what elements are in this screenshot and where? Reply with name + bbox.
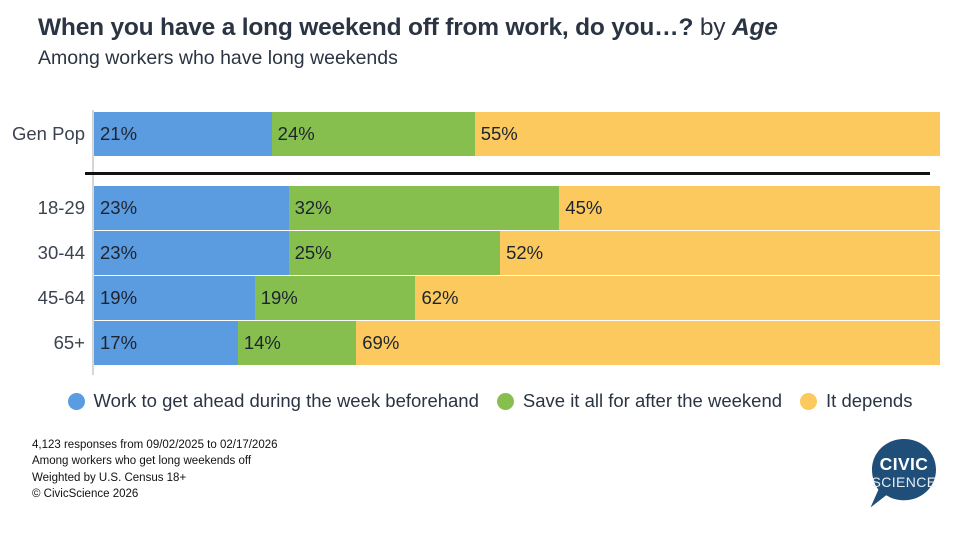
bar-segment-value: 25% [289, 242, 332, 264]
bar-segment-value: 23% [94, 197, 137, 219]
legend-item-label: It depends [826, 390, 912, 412]
footnote-weighting: Weighted by U.S. Census 18+ [32, 470, 278, 486]
bar-segment[interactable]: 17% [94, 321, 238, 365]
bar-segment-value: 19% [255, 287, 298, 309]
page-title: When you have a long weekend off from wo… [38, 14, 938, 43]
legend-item[interactable]: Work to get ahead during the week before… [68, 390, 479, 412]
bar-row-label: Gen Pop [0, 112, 85, 156]
bar-segment[interactable]: 14% [238, 321, 356, 365]
bar-segment[interactable]: 69% [356, 321, 940, 365]
bar-segment-value: 62% [415, 287, 458, 309]
bar-row: Gen Pop21%24%55% [0, 112, 966, 156]
bar-segment-value: 24% [272, 123, 315, 145]
title-connector: by [693, 14, 732, 41]
bar-segment[interactable]: 32% [289, 186, 560, 230]
bar-row-label: 65+ [0, 321, 85, 365]
civicscience-logo: CIVIC SCIENCE [864, 437, 944, 511]
legend-swatch-circle-icon [497, 393, 514, 410]
bar-segment[interactable]: 25% [289, 231, 501, 275]
bar-segment-value: 23% [94, 242, 137, 264]
legend-swatch-circle-icon [800, 393, 817, 410]
gen-pop-divider [85, 172, 930, 175]
bar-segment-value: 14% [238, 332, 281, 354]
legend-item-label: Work to get ahead during the week before… [94, 390, 479, 412]
stacked-bar: 19%19%62% [94, 276, 940, 320]
bar-segment-value: 52% [500, 242, 543, 264]
legend-item[interactable]: Save it all for after the weekend [497, 390, 782, 412]
bar-segment[interactable]: 55% [475, 112, 940, 156]
legend-item[interactable]: It depends [800, 390, 912, 412]
bar-segment[interactable]: 23% [94, 186, 289, 230]
chart-header: When you have a long weekend off from wo… [38, 14, 938, 71]
legend-swatch-circle-icon [68, 393, 85, 410]
title-breakout: Age [732, 14, 778, 41]
footnote: 4,123 responses from 09/02/2025 to 02/17… [32, 437, 278, 502]
bar-segment-value: 21% [94, 123, 137, 145]
bar-segment[interactable]: 23% [94, 231, 289, 275]
bar-segment-value: 19% [94, 287, 137, 309]
bar-row: 18-2923%32%45% [0, 186, 966, 230]
bar-segment-value: 45% [559, 197, 602, 219]
bar-row-label: 18-29 [0, 186, 85, 230]
stacked-bar: 17%14%69% [94, 321, 940, 365]
chart-plot-area: Gen Pop21%24%55%18-2923%32%45%30-4423%25… [0, 104, 966, 379]
bar-row: 30-4423%25%52% [0, 231, 966, 275]
logo-text-civic: CIVIC [880, 454, 929, 474]
bar-segment[interactable]: 52% [500, 231, 940, 275]
stacked-bar: 23%25%52% [94, 231, 940, 275]
bar-segment-value: 55% [475, 123, 518, 145]
stacked-bar: 21%24%55% [94, 112, 940, 156]
bar-row: 65+17%14%69% [0, 321, 966, 365]
civicscience-logo-icon: CIVIC SCIENCE [864, 437, 944, 511]
bar-segment[interactable]: 45% [559, 186, 940, 230]
bar-segment-value: 69% [356, 332, 399, 354]
legend-item-label: Save it all for after the weekend [523, 390, 782, 412]
bar-segment-value: 17% [94, 332, 137, 354]
bar-segment[interactable]: 21% [94, 112, 272, 156]
bar-segment[interactable]: 19% [255, 276, 416, 320]
logo-text-science: SCIENCE [871, 474, 936, 490]
bar-segment[interactable]: 62% [415, 276, 940, 320]
footnote-population: Among workers who get long weekends off [32, 453, 278, 469]
bar-segment[interactable]: 24% [272, 112, 475, 156]
bar-row: 45-6419%19%62% [0, 276, 966, 320]
footnote-copyright: © CivicScience 2026 [32, 486, 278, 502]
bar-row-label: 30-44 [0, 231, 85, 275]
chart-legend: Work to get ahead during the week before… [30, 390, 950, 412]
page-subtitle: Among workers who have long weekends [38, 46, 938, 71]
bar-row-label: 45-64 [0, 276, 85, 320]
bar-segment-value: 32% [289, 197, 332, 219]
title-question: When you have a long weekend off from wo… [38, 14, 693, 41]
bar-segment[interactable]: 19% [94, 276, 255, 320]
stacked-bar: 23%32%45% [94, 186, 940, 230]
footnote-responses: 4,123 responses from 09/02/2025 to 02/17… [32, 437, 278, 453]
